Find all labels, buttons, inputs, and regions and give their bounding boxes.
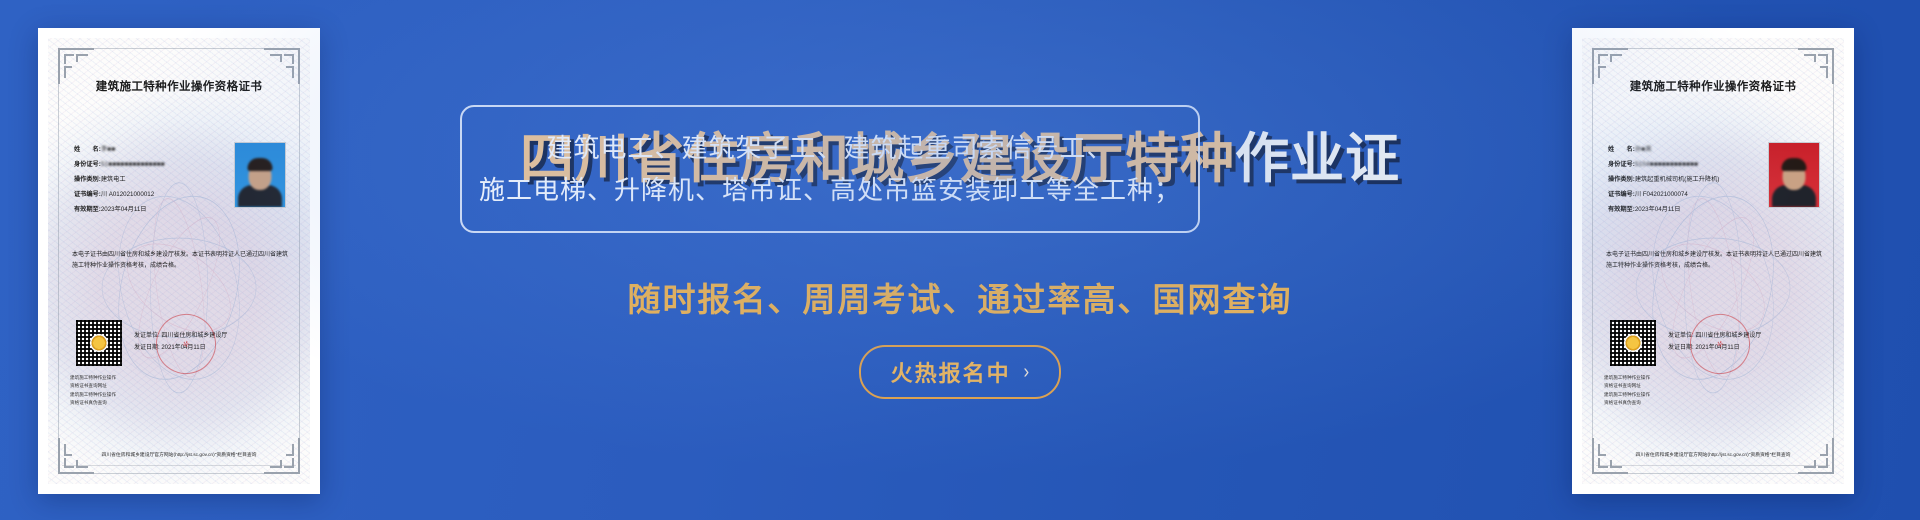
specialty-line-1: 建筑电工、建筑架子工、建筑起重司索信号工、 [546, 127, 1113, 169]
field-label: 操作类别: [1608, 176, 1635, 183]
field-value: 建筑电工 [101, 176, 126, 183]
qr-code-icon [1610, 320, 1656, 366]
enroll-now-label: 火热报名中 [891, 356, 1011, 388]
field-label: 姓 名: [1608, 146, 1635, 153]
qr-caption-line: 建筑施工特种作业操作 [1604, 374, 1650, 382]
certificate-card-right: 建筑施工特种作业操作资格证书 姓 名:孙■英 身份证号:5104■■■■■■■■… [1572, 28, 1854, 494]
field-label: 操作类别: [74, 176, 101, 183]
field-label: 身份证号: [74, 161, 101, 168]
field-row: 姓 名:孙■英 [1608, 144, 1758, 156]
certificate-fields: 姓 名:李■■ 身份证号:51■■■■■■■■■■■■■■ 操作类别:建筑电工 … [74, 144, 224, 219]
qr-caption: 建筑施工特种作业操作 资格证书查询网址 建筑施工特种作业操作 资格证书真伪查询 [70, 374, 116, 408]
qr-code-icon [76, 320, 122, 366]
certificate-card-left: 建筑施工特种作业操作资格证书 姓 名:李■■ 身份证号:51■■■■■■■■■■… [38, 28, 320, 494]
field-value: 2023年04月11日 [1635, 206, 1681, 213]
certificate-footer: 四川省住房和城乡建设厅官方网站(http://jst.sc.gov.cn)"资质… [66, 451, 292, 458]
qr-caption: 建筑施工特种作业操作 资格证书查询网址 建筑施工特种作业操作 资格证书真伪查询 [1604, 374, 1650, 408]
slogan-text: 随时报名、周周考试、通过率高、国网查询 [360, 273, 1560, 321]
field-value: 2023年04月11日 [101, 206, 147, 213]
field-value: 建筑起重机械司机(施工升降机) [1635, 176, 1720, 183]
certificate-photo [234, 142, 286, 208]
qr-caption-line: 资格证书真伪查询 [1604, 399, 1650, 407]
certificate-note: 本电子证书由四川省住房和城乡建设厅核发。本证书表明持证人已通过四川省建筑施工特种… [1606, 250, 1822, 272]
field-row: 有效期至:2023年04月11日 [74, 204, 224, 216]
certificate-title: 建筑施工特种作业操作资格证书 [1582, 78, 1844, 94]
field-row: 姓 名:李■■ [74, 144, 224, 156]
field-row: 身份证号:51■■■■■■■■■■■■■■ [74, 159, 224, 171]
field-value: 孙■英 [1635, 146, 1652, 153]
qr-caption-line: 资格证书真伪查询 [70, 399, 116, 407]
field-value: 李■■ [101, 146, 116, 153]
field-value: 川 A012021000012 [101, 191, 154, 198]
field-value: 51■■■■■■■■■■■■■■ [101, 161, 165, 168]
field-row: 证书编号:川 F042021000074 [1608, 189, 1758, 201]
certificate-photo [1768, 142, 1820, 208]
certificate-note: 本电子证书由四川省住房和城乡建设厅核发。本证书表明持证人已通过四川省建筑施工特种… [72, 250, 288, 272]
field-row: 身份证号:5104■■■■■■■■■■■■ [1608, 159, 1758, 171]
photo-hair [248, 158, 273, 171]
cta-container: 火热报名中 › [360, 345, 1560, 399]
banner-content: 四川省住房和城乡建设厅特种作业证 建筑电工、建筑架子工、建筑起重司索信号工、 施… [360, 0, 1560, 520]
certificate-paper: 建筑施工特种作业操作资格证书 姓 名:李■■ 身份证号:51■■■■■■■■■■… [48, 38, 310, 484]
qr-caption-line: 资格证书查询网址 [70, 382, 116, 390]
field-row: 操作类别:建筑起重机械司机(施工升降机) [1608, 174, 1758, 186]
specialty-list-box: 建筑电工、建筑架子工、建筑起重司索信号工、 施工电梯、升降机、塔吊证、高处吊篮安… [460, 105, 1200, 233]
qr-caption-line: 建筑施工特种作业操作 [1604, 391, 1650, 399]
field-label: 证书编号: [1608, 191, 1635, 198]
certificate-paper: 建筑施工特种作业操作资格证书 姓 名:孙■英 身份证号:5104■■■■■■■■… [1582, 38, 1844, 484]
field-label: 有效期至: [74, 206, 101, 213]
promo-banner: 建筑施工特种作业操作资格证书 姓 名:李■■ 身份证号:51■■■■■■■■■■… [0, 0, 1920, 520]
qr-caption-line: 建筑施工特种作业操作 [70, 391, 116, 399]
qr-caption-line: 建筑施工特种作业操作 [70, 374, 116, 382]
chevron-right-icon: › [1023, 361, 1029, 384]
certificate-fields: 姓 名:孙■英 身份证号:5104■■■■■■■■■■■■ 操作类别:建筑起重机… [1608, 144, 1758, 219]
field-value: 川 F042021000074 [1635, 191, 1688, 198]
field-row: 证书编号:川 A012021000012 [74, 189, 224, 201]
certificate-title: 建筑施工特种作业操作资格证书 [48, 78, 310, 94]
enroll-now-button[interactable]: 火热报名中 › [859, 345, 1062, 399]
field-row: 操作类别:建筑电工 [74, 174, 224, 186]
field-value: 5104■■■■■■■■■■■■ [1635, 161, 1698, 168]
certificate-divider [1596, 465, 1830, 466]
field-label: 证书编号: [74, 191, 101, 198]
specialty-line-2: 施工电梯、升降机、塔吊证、高处吊篮安装卸工等全工种； [479, 169, 1181, 211]
certificate-footer: 四川省住房和城乡建设厅官方网站(http://jst.sc.gov.cn)"资质… [1600, 451, 1826, 458]
title-segment-accent: 作业证 [1235, 127, 1400, 190]
field-label: 有效期至: [1608, 206, 1635, 213]
field-label: 身份证号: [1608, 161, 1635, 168]
field-row: 有效期至:2023年04月11日 [1608, 204, 1758, 216]
photo-hair [1782, 158, 1807, 171]
qr-caption-line: 资格证书查询网址 [1604, 382, 1650, 390]
field-label: 姓 名: [74, 146, 101, 153]
certificate-divider [62, 465, 296, 466]
